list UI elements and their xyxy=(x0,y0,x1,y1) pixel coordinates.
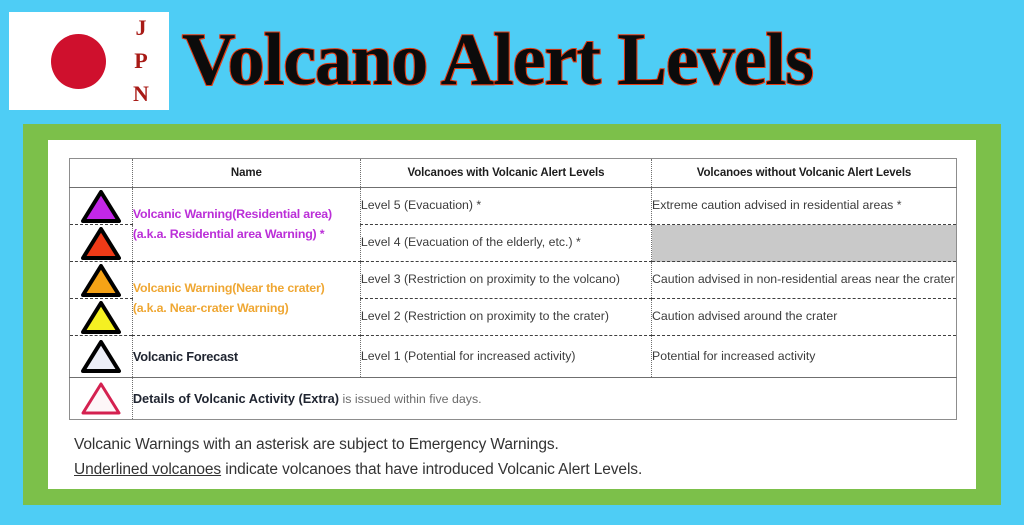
column-header-name: Name xyxy=(132,159,360,188)
alert-icon-cell xyxy=(70,262,133,299)
poster-root: J P N Volcano Alert Levels Name Volcanoe… xyxy=(0,0,1024,525)
page-header: J P N Volcano Alert Levels xyxy=(0,0,1024,122)
footnote-underlined: Underlined volcanoes indicate volcanoes … xyxy=(74,457,954,482)
table-header-row: Name Volcanoes with Volcanic Alert Level… xyxy=(70,159,957,188)
table-row: Volcanic Forecast Level 1 (Potential for… xyxy=(70,336,957,378)
footnotes: Volcanic Warnings with an asterisk are s… xyxy=(74,432,954,482)
column-header-icon xyxy=(70,159,133,188)
without-levels-cell: Caution advised in non-residential areas… xyxy=(652,262,957,299)
flag-red-circle xyxy=(51,34,106,89)
triangle-magenta-icon xyxy=(81,190,121,223)
triangle-orange-icon xyxy=(81,264,121,297)
with-levels-cell: Level 5 (Evacuation) * xyxy=(360,188,651,225)
with-levels-cell: Level 2 (Restriction on proximity to the… xyxy=(360,299,651,336)
extra-note-strong: Details of Volcanic Activity (Extra) xyxy=(133,391,339,406)
without-levels-cell: Caution advised around the crater xyxy=(652,299,957,336)
column-header-with-levels: Volcanoes with Volcanic Alert Levels xyxy=(360,159,651,188)
with-levels-cell: Level 3 (Restriction on proximity to the… xyxy=(360,262,651,299)
extra-note-rest: is issued within five days. xyxy=(339,392,482,406)
triangle-white-icon xyxy=(81,340,121,373)
alert-icon-cell xyxy=(70,225,133,262)
jpn-letters: J P N xyxy=(122,12,160,110)
without-levels-cell-shaded xyxy=(652,225,957,262)
with-levels-cell: Level 1 (Potential for increased activit… xyxy=(360,336,651,378)
content-card: Name Volcanoes with Volcanic Alert Level… xyxy=(48,140,976,489)
group-name-line1: Volcanic Warning(Residential area) xyxy=(133,205,360,224)
footnote-underlined-prefix: Underlined volcanoes xyxy=(74,461,221,478)
group-name-line2: (a.k.a. Near-crater Warning) xyxy=(133,299,360,318)
table-row-extra: Details of Volcanic Activity (Extra) is … xyxy=(70,378,957,420)
footnote-asterisk: Volcanic Warnings with an asterisk are s… xyxy=(74,432,954,457)
triangle-crimson-outline-icon xyxy=(81,382,121,415)
triangle-yellow-icon xyxy=(81,301,121,334)
group-name-cell-forecast: Volcanic Forecast xyxy=(132,336,360,378)
alert-icon-cell xyxy=(70,378,133,420)
alert-levels-table: Name Volcanoes with Volcanic Alert Level… xyxy=(69,158,957,420)
japan-flag-icon: J P N xyxy=(9,12,169,110)
green-frame: Name Volcanoes with Volcanic Alert Level… xyxy=(23,124,1001,505)
alert-icon-cell xyxy=(70,336,133,378)
group-name-cell-residential: Volcanic Warning(Residential area) (a.k.… xyxy=(132,188,360,262)
page-title: Volcano Alert Levels xyxy=(182,14,813,106)
group-name-line1: Volcanic Warning(Near the crater) xyxy=(133,279,360,298)
without-levels-cell: Extreme caution advised in residential a… xyxy=(652,188,957,225)
jpn-letter-j: J xyxy=(136,17,147,39)
jpn-letter-p: P xyxy=(134,50,147,72)
alert-icon-cell xyxy=(70,299,133,336)
group-name-cell-crater: Volcanic Warning(Near the crater) (a.k.a… xyxy=(132,262,360,336)
column-header-without-levels: Volcanoes without Volcanic Alert Levels xyxy=(652,159,957,188)
table-row: Volcanic Warning(Residential area) (a.k.… xyxy=(70,188,957,225)
group-name-line2: (a.k.a. Residential area Warning) * xyxy=(133,225,360,244)
jpn-letter-n: N xyxy=(133,83,149,105)
without-levels-cell: Potential for increased activity xyxy=(652,336,957,378)
footnote-underlined-rest: indicate volcanoes that have introduced … xyxy=(221,461,642,478)
triangle-red-icon xyxy=(81,227,121,260)
group-name-line1: Volcanic Forecast xyxy=(133,349,360,364)
with-levels-cell: Level 4 (Evacuation of the elderly, etc.… xyxy=(360,225,651,262)
table-row: Volcanic Warning(Near the crater) (a.k.a… xyxy=(70,262,957,299)
extra-note-cell: Details of Volcanic Activity (Extra) is … xyxy=(132,378,956,420)
alert-icon-cell xyxy=(70,188,133,225)
